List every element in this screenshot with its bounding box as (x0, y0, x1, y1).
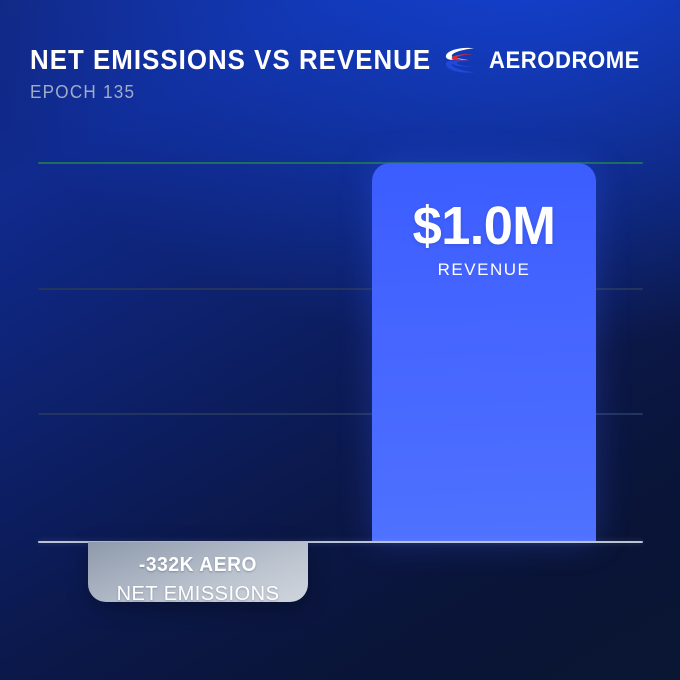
aerodrome-swoosh-icon (443, 46, 477, 76)
bar-chart: $1.0M REVENUE -332K AERO NET EMISSIONS (0, 128, 680, 680)
emissions-value-label: -332K AERO (92, 554, 303, 577)
epoch-subtitle: EPOCH 135 (30, 82, 135, 103)
brand-lockup: AERODROME (443, 44, 653, 78)
bar-net-emissions[interactable]: -332K AERO NET EMISSIONS (88, 542, 308, 602)
page-title: NET EMISSIONS VS REVENUE (30, 44, 431, 76)
brand-name: AERODROME (489, 47, 640, 75)
revenue-name-label: REVENUE (372, 260, 596, 280)
bar-revenue[interactable]: $1.0M REVENUE (372, 163, 596, 541)
emissions-vs-revenue-infographic: NET EMISSIONS VS REVENUE EPOCH 135 AEROD… (0, 0, 680, 680)
revenue-value-label: $1.0M (375, 195, 592, 257)
header: NET EMISSIONS VS REVENUE EPOCH 135 AEROD… (0, 0, 680, 128)
emissions-name-label: NET EMISSIONS (88, 583, 308, 606)
